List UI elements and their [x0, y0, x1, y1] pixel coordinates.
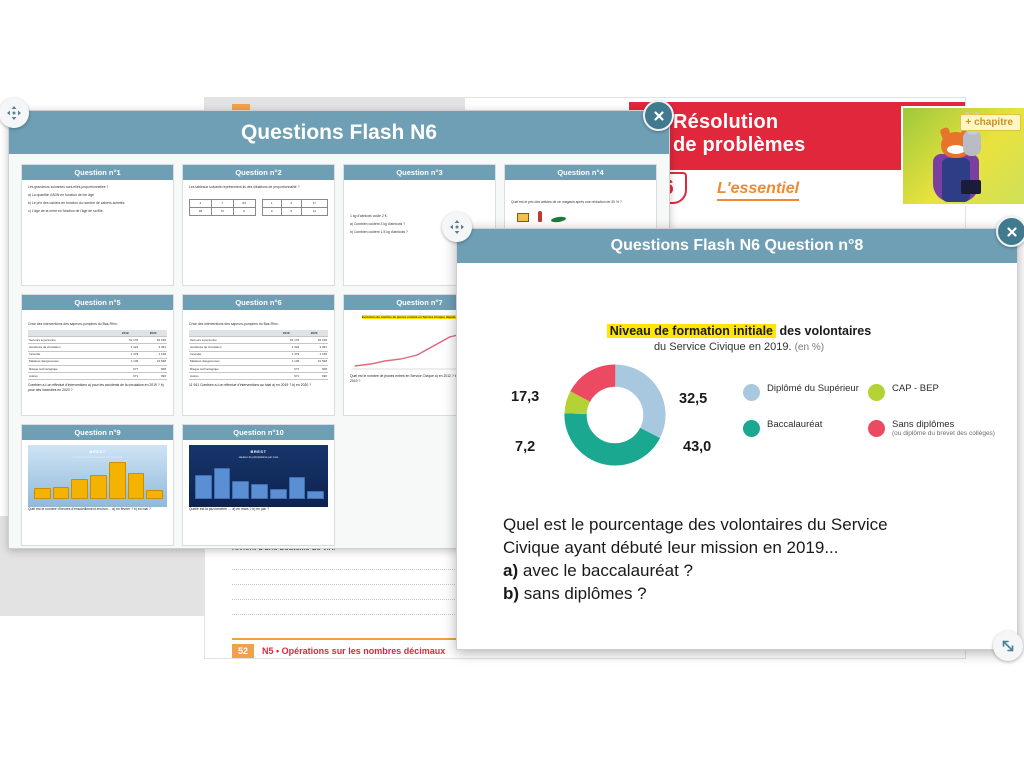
- legend-item-sans-diplomes: Sans diplômes (ou diplôme du brevet des …: [868, 419, 1013, 438]
- q1-line-3: c) L'âge de ta mère en fonction de l'âge…: [28, 209, 167, 214]
- q2-line-0: Les tableaux suivants représentent-ils d…: [189, 185, 328, 190]
- donut-chart-figure: Niveau de formation initiale des volonta…: [487, 323, 991, 483]
- document-footer: 52 N5 • Opérations sur les nombres décim…: [232, 644, 445, 658]
- move-arrows-icon: [449, 219, 465, 235]
- thumbnail-question-1[interactable]: Question n°1 Les grandeurs suivantes son…: [21, 164, 174, 286]
- chapter-illustration: + chapitre: [901, 106, 1024, 206]
- option-a-label: a): [503, 561, 518, 580]
- modal-resize-handle[interactable]: [993, 631, 1023, 661]
- thumbnail-header: Question n°1: [22, 165, 173, 180]
- thumbnail-header: Question n°9: [22, 425, 173, 440]
- legend-label-sans-diplomes: Sans diplômes: [892, 419, 954, 430]
- q9-question: Quel est le nombre d'heures d'ensoleille…: [28, 507, 151, 511]
- q5-table: 20192020 Secours à personne51 17654 150 …: [28, 330, 167, 380]
- thumbnail-question-9[interactable]: Question n°9 BREST Nombre d'heures d'ens…: [21, 424, 174, 546]
- close-icon: [652, 109, 666, 123]
- q10-rainfall-chart: BREST Hauteur de précipitations par mois: [189, 445, 328, 507]
- thumbnail-header: Question n°5: [22, 295, 173, 310]
- screen-root: Résolution de problèmes + chapitre N6: [0, 0, 1024, 768]
- option-a-text: avec le baccalauréat ?: [523, 561, 693, 580]
- thumbnail-body: Les tableaux suivants représentent-ils d…: [183, 180, 334, 285]
- q5-question: Combien a-t-on effectué d'interventions …: [28, 383, 164, 392]
- chapter-title-line1: Résolution: [673, 111, 805, 134]
- chart-subtitle-unit: (en %): [795, 342, 824, 353]
- back-window-move-handle[interactable]: [0, 98, 29, 128]
- q2-table-b: 1217 9514: [262, 199, 329, 216]
- thumbnail-body: Crise des interventions des sapeurs-pomp…: [183, 310, 334, 415]
- question-line-1: Quel est le pourcentage des volontaires …: [503, 513, 987, 536]
- legend-swatch-baccalaureat: [743, 420, 760, 437]
- q10-bars: [195, 459, 324, 499]
- question-text-block: Quel est le pourcentage des volontaires …: [503, 513, 987, 605]
- thumbnail-body: BREST Nombre d'heures d'ensoleillement p…: [22, 440, 173, 545]
- value-label-sans-diplomes: 17,3: [511, 389, 539, 405]
- resize-diagonal-icon: [1000, 638, 1016, 654]
- thumbnail-body: BREST Hauteur de précipitations par mois…: [183, 440, 334, 545]
- q9-bars: [34, 459, 163, 499]
- legend-label-baccalaureat: Baccalauréat: [767, 419, 822, 430]
- q6-question: Combien a-t-on effectué d'interventions …: [200, 383, 311, 387]
- legend-label-cap-bep: CAP - BEP: [892, 383, 939, 394]
- modal-title: Questions Flash N6 Question n°8: [611, 237, 864, 255]
- chapter-banner: Résolution de problèmes + chapitre N6: [629, 102, 965, 170]
- chart-subtitle-text: du Service Civique en 2019.: [654, 341, 792, 353]
- back-window-close-button[interactable]: [643, 100, 674, 131]
- thumbnail-header: Question n°3: [344, 165, 495, 180]
- legend-swatch-cap-bep: [868, 384, 885, 401]
- modal-slide: Niveau de formation initiale des volonta…: [457, 263, 1017, 649]
- q1-line-2: b) Le prix des cahiers en fonction du no…: [28, 201, 167, 206]
- q10-question: Quelle est la pluviométrie … a) en mars …: [189, 507, 269, 511]
- back-window-titlebar[interactable]: Questions Flash N6: [9, 111, 669, 155]
- chart-title-highlight: Niveau de formation initiale: [607, 324, 776, 338]
- donut-svg: [563, 363, 667, 467]
- thumbnail-body: Les grandeurs suivantes sont-elles propo…: [22, 180, 173, 285]
- modal-move-handle[interactable]: [442, 212, 472, 242]
- thumbnail-header: Question n°2: [183, 165, 334, 180]
- chart-title-rest: des volontaires: [780, 324, 872, 338]
- q1-line-0: Les grandeurs suivantes sont-elles propo…: [28, 185, 167, 190]
- value-label-baccalaureat: 43,0: [683, 439, 711, 455]
- q2-table-a: 4784 48729: [189, 199, 256, 216]
- q6-table: 20192020 Secours à personne51 17654 150 …: [189, 330, 328, 380]
- modal-titlebar[interactable]: Questions Flash N6 Question n°8: [457, 229, 1017, 263]
- chart-legend: Diplômé du Supérieur CAP - BEP Baccalaur…: [743, 383, 1013, 438]
- value-label-superieur: 32,5: [679, 391, 707, 407]
- legend-swatch-sans-diplomes: [868, 420, 885, 437]
- book-icon: [517, 213, 529, 222]
- q9-city: BREST: [89, 449, 105, 454]
- question-8-modal: Questions Flash N6 Question n°8 Niveau d…: [456, 228, 1018, 650]
- thumbnail-header: Question n°4: [505, 165, 656, 180]
- close-icon: [1005, 225, 1019, 239]
- legend-note-sans-diplomes: (ou diplôme du brevet des collèges): [892, 430, 995, 438]
- legend-item-superieur: Diplômé du Supérieur: [743, 383, 868, 401]
- q6-intro: Crise des interventions des sapeurs-pomp…: [189, 322, 328, 327]
- essentiel-label: L'essentiel: [717, 180, 799, 201]
- back-window-title: Questions Flash N6: [241, 121, 437, 145]
- q5-intro: Crise des interventions des sapeurs-pomp…: [28, 322, 167, 327]
- footer-label: N5 • Opérations sur les nombres décimaux: [262, 646, 445, 656]
- option-b-label: b): [503, 584, 519, 603]
- option-b-text: sans diplômes ?: [524, 584, 647, 603]
- move-arrows-icon: [6, 105, 22, 121]
- chart-body: 32,5 43,0 7,2 17,3 Diplômé du Supérieur …: [487, 361, 991, 469]
- thumbnail-question-6[interactable]: Question n°6 Crise des interventions des…: [182, 294, 335, 416]
- thumbnail-question-10[interactable]: Question n°10 BREST Hauteur de précipita…: [182, 424, 335, 546]
- thumbnail-header: Question n°10: [183, 425, 334, 440]
- legend-item-baccalaureat: Baccalauréat: [743, 419, 868, 438]
- cucumber-icon: [551, 216, 567, 223]
- page-number: 52: [232, 644, 254, 658]
- thumbnail-question-2[interactable]: Question n°2 Les tableaux suivants repré…: [182, 164, 335, 286]
- thumbnail-header: Question n°6: [183, 295, 334, 310]
- q10-city: BREST: [250, 449, 266, 454]
- legend-swatch-superieur: [743, 384, 760, 401]
- bottle-icon: [538, 211, 542, 222]
- chart-subtitle: du Service Civique en 2019. (en %): [487, 341, 991, 353]
- question-option-b: b) sans diplômes ?: [503, 582, 987, 605]
- q9-sunshine-chart: BREST Nombre d'heures d'ensoleillement p…: [28, 445, 167, 507]
- q4-line-0: Quel est le prix des articles de ce maga…: [511, 200, 650, 205]
- thumbnail-question-5[interactable]: Question n°5 Crise des interventions des…: [21, 294, 174, 416]
- legend-label-superieur: Diplômé du Supérieur: [767, 383, 859, 394]
- question-line-2: Civique ayant débuté leur mission en 201…: [503, 536, 987, 559]
- q1-line-1: a) La quantité d'ADN en fonction de ton …: [28, 193, 167, 198]
- chapter-title-line2: de problèmes: [673, 134, 805, 157]
- legend-item-cap-bep: CAP - BEP: [868, 383, 1013, 401]
- modal-close-button[interactable]: [996, 216, 1024, 247]
- chapter-badge: + chapitre: [960, 114, 1021, 131]
- q6-total: 11 941: [189, 383, 199, 387]
- question-option-a: a) avec le baccalauréat ?: [503, 559, 987, 582]
- value-label-cap-bep: 7,2: [515, 439, 535, 455]
- chart-title: Niveau de formation initiale des volonta…: [487, 323, 991, 340]
- q4-item-icons: [511, 211, 650, 222]
- thumbnail-body: Crise des interventions des sapeurs-pomp…: [22, 310, 173, 415]
